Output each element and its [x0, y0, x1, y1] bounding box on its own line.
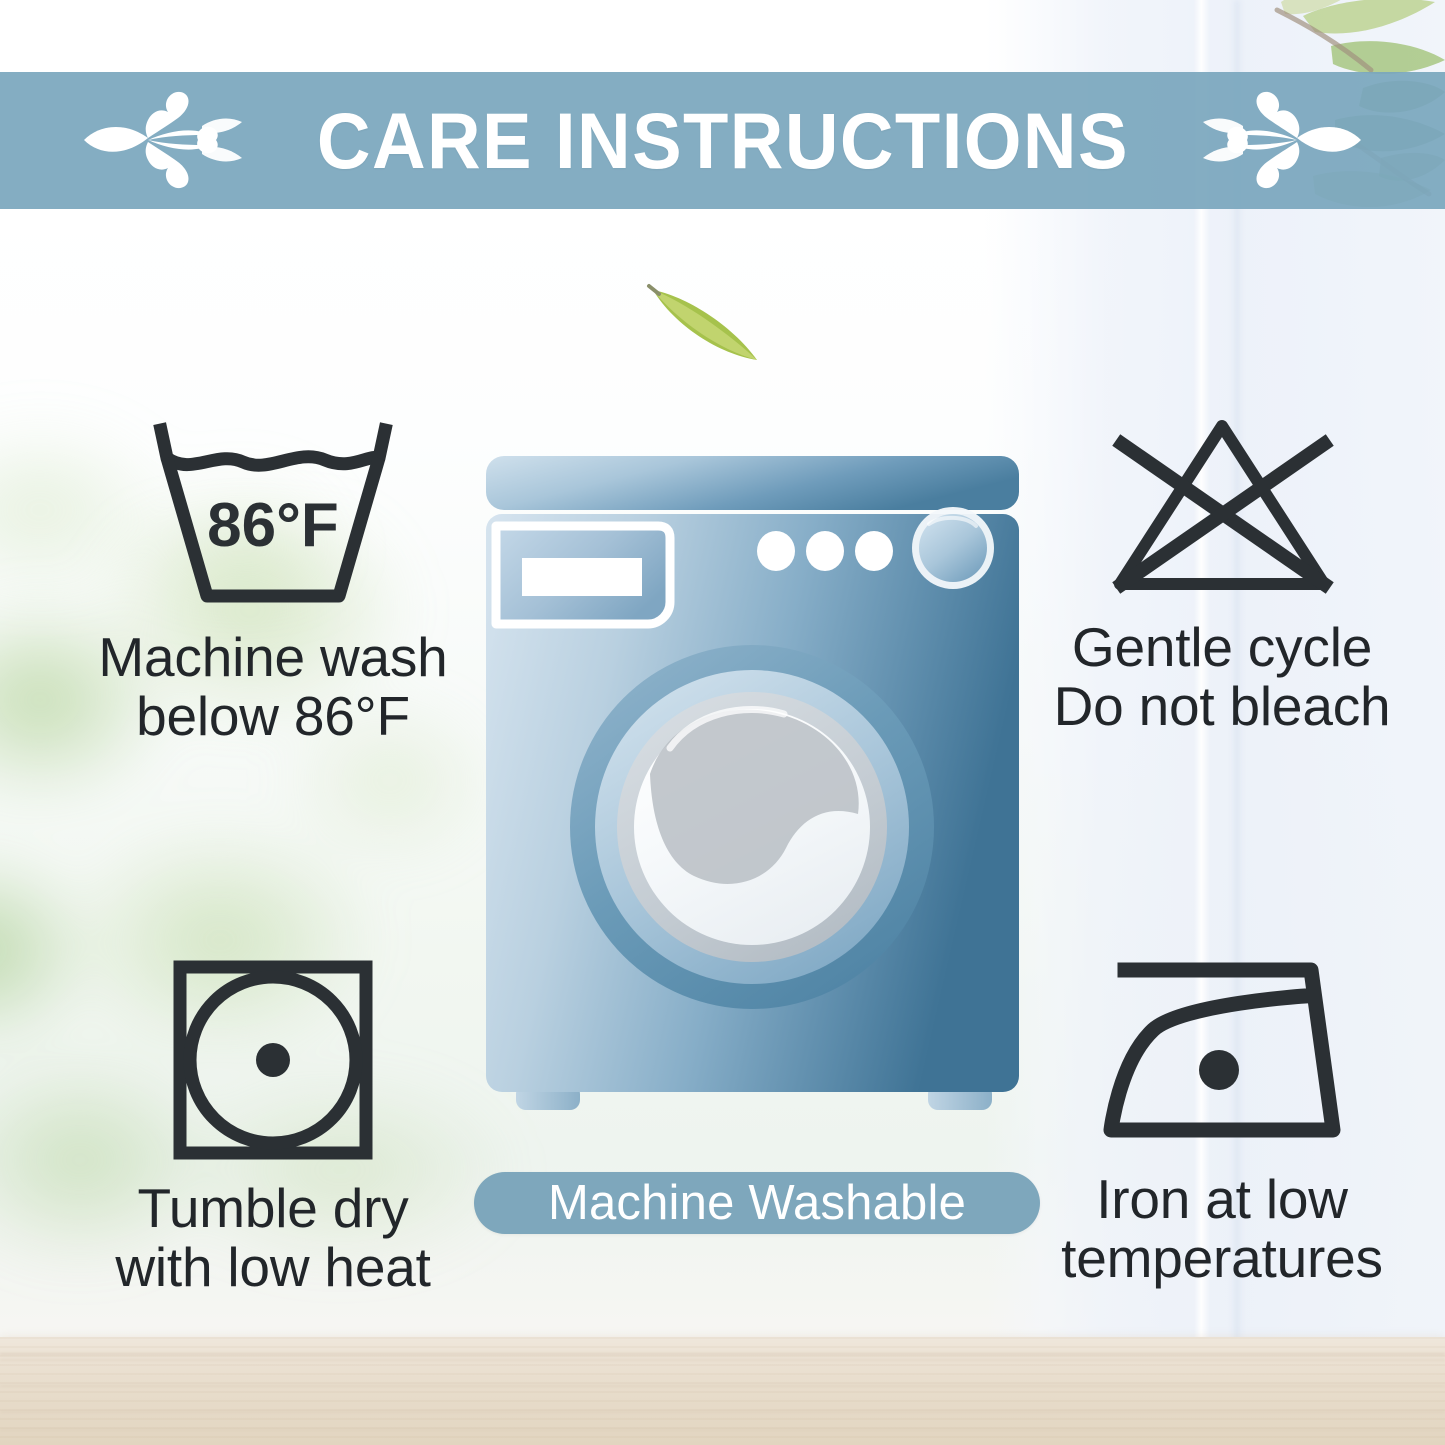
fleur-de-lis-icon [1196, 88, 1371, 193]
wood-grain-line [0, 1385, 1445, 1387]
wood-grain-line [0, 1429, 1445, 1431]
washer-dial[interactable] [912, 507, 994, 589]
wood-grain-line [0, 1353, 1445, 1355]
wash-temperature-value: 86°F [207, 491, 339, 560]
wood-grain-line [0, 1411, 1445, 1413]
washing-machine-illustration [480, 452, 1025, 1132]
washer-button[interactable] [855, 531, 893, 571]
falling-leaf-icon [645, 272, 775, 372]
detergent-drawer [496, 526, 670, 624]
wood-grain-line [0, 1359, 1445, 1361]
care-symbol-iron-low: Iron at low temperatures [1002, 960, 1442, 1289]
tumble-dry-square-circle-one-dot-icon [168, 955, 378, 1165]
machine-washable-badge: Machine Washable [474, 1172, 1040, 1234]
header-banner: CARE INSTRUCTIONS [0, 72, 1445, 209]
care-symbol-tumble-dry: Tumble dry with low heat [48, 955, 498, 1298]
care-symbol-machine-wash: 86°F Machine wash below 86°F [48, 418, 498, 747]
care-symbol-label: Iron at low temperatures [1061, 1170, 1383, 1289]
page-title: CARE INSTRUCTIONS [317, 101, 1129, 180]
iron-one-dot-icon [1097, 960, 1347, 1156]
badge-label: Machine Washable [548, 1175, 966, 1231]
care-symbol-label: Machine wash below 86°F [98, 628, 447, 747]
washer-top-panel [486, 456, 1019, 510]
washer-button[interactable] [806, 531, 844, 571]
care-symbol-label: Gentle cycle Do not bleach [1054, 618, 1391, 737]
washer-button[interactable] [757, 531, 795, 571]
crossed-triangle-icon [1096, 408, 1348, 604]
care-symbol-do-not-bleach: Gentle cycle Do not bleach [1002, 408, 1442, 737]
drawer-slot [522, 558, 642, 596]
wash-tub-icon: 86°F [147, 418, 399, 614]
fleur-de-lis-icon [74, 88, 249, 193]
care-symbol-label: Tumble dry with low heat [115, 1179, 430, 1298]
care-instructions-infographic: CARE INSTRUCTIONS 86°F Machine wash belo… [0, 0, 1445, 1445]
washer-door[interactable] [570, 645, 934, 1009]
wood-table-surface [0, 1337, 1445, 1445]
